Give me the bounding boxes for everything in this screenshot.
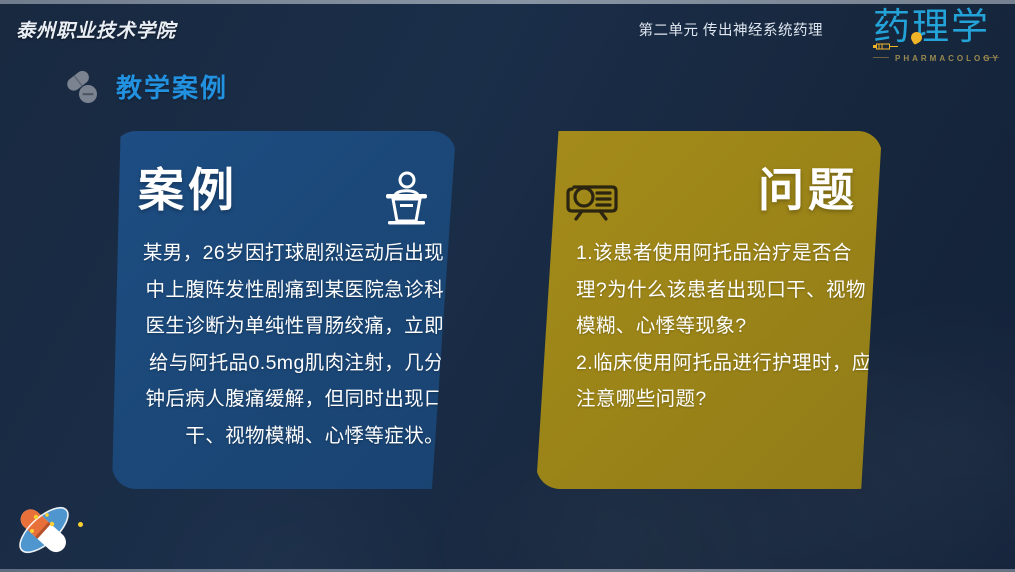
syringe-icon [873,43,899,50]
pharmacology-logo: 药理学 PHARMACOLOGY [869,8,1001,64]
lecturer-podium-icon [384,171,430,225]
questions-card-header: 问题 [536,153,882,225]
capsule-tablet-icon [62,70,102,104]
yellow-dot [78,522,83,527]
question-item-2: 2.临床使用阿托品进行护理时，应注意哪些问题? [576,345,876,418]
unit-label: 第二单元 传出神经系统药理 [638,19,823,40]
case-card[interactable]: 案例 某男，26岁因打球剧烈运动后出现中上腹阵发性剧痛到某医院急诊科医生诊断为单… [112,131,456,489]
logo-english-text: PHARMACOLOGY [895,54,1001,63]
case-card-title: 案例 [138,161,238,219]
projector-icon [564,179,620,223]
logo-chinese-text: 药理学 [873,6,990,48]
questions-card-body: 1.该患者使用阿托品治疗是否合理?为什么该患者出现口干、视物模糊、心悸等现象? … [576,235,876,418]
logo-rule-left [873,57,889,58]
questions-card[interactable]: 问题 1.该患者使用阿托品治疗是否合理?为什么该患者出现口干、视物模糊、心悸等现… [536,131,882,489]
section-heading: 教学案例 [62,68,228,105]
top-border-strip [0,0,1015,4]
section-title: 教学案例 [116,68,228,105]
slide-canvas: 泰州职业技术学院 第二单元 传出神经系统药理 药理学 PHARMACOLOGY … [0,0,1015,572]
university-name: 泰州职业技术学院 [16,16,176,43]
case-card-body: 某男，26岁因打球剧烈运动后出现中上腹阵发性剧痛到某医院急诊科医生诊断为单纯性胃… [132,235,444,454]
case-card-header: 案例 [112,153,456,225]
capsule-orbit-icon [8,498,80,562]
question-item-1: 1.该患者使用阿托品治疗是否合理?为什么该患者出现口干、视物模糊、心悸等现象? [576,235,876,345]
questions-card-title: 问题 [758,161,858,219]
